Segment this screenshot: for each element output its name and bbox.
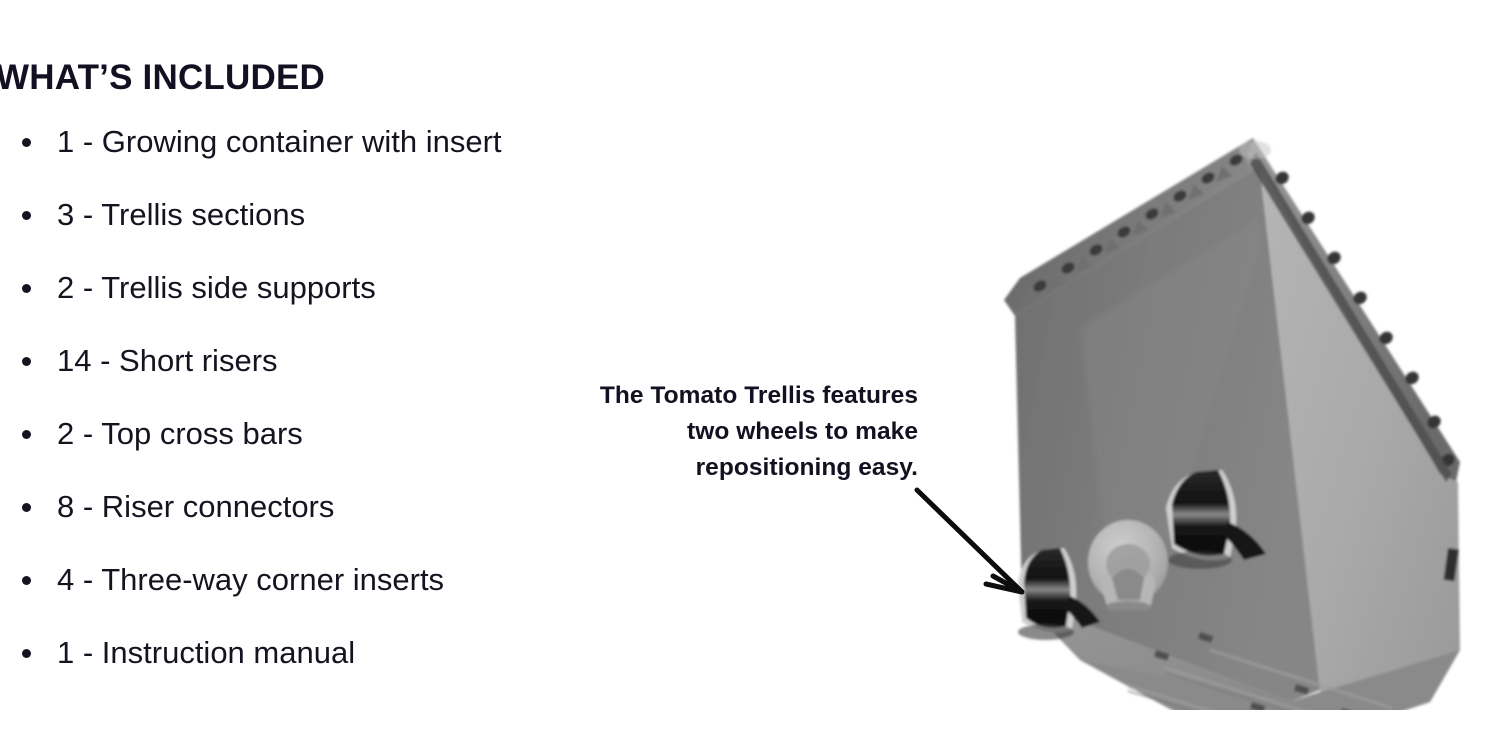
list-item: 3 - Trellis sections (0, 195, 620, 268)
list-item-label: 8 - Riser connectors (57, 489, 334, 524)
bullet-icon (22, 503, 31, 512)
bullet-icon (22, 211, 31, 220)
list-item: 1 - Growing container with insert (0, 122, 620, 195)
container-body (1004, 138, 1460, 710)
page-title: WHAT’S INCLUDED (0, 58, 325, 98)
list-item-label: 4 - Three-way corner inserts (57, 562, 444, 597)
bullet-icon (22, 576, 31, 585)
list-item: 2 - Top cross bars (0, 414, 620, 487)
callout-line-3: repositioning easy. (540, 450, 918, 486)
bullet-icon (22, 138, 31, 147)
included-items-list: 1 - Growing container with insert 3 - Tr… (0, 122, 620, 706)
callout-line-1: The Tomato Trellis features (540, 378, 918, 414)
pointer-arrow (890, 460, 1060, 620)
list-item-label: 3 - Trellis sections (57, 197, 305, 232)
list-item: 1 - Instruction manual (0, 633, 620, 706)
product-photo (960, 130, 1500, 710)
list-item-label: 2 - Top cross bars (57, 416, 303, 451)
list-item: 2 - Trellis side supports (0, 268, 620, 341)
list-item-label: 1 - Growing container with insert (57, 124, 502, 159)
callout-caption: The Tomato Trellis features two wheels t… (540, 378, 918, 486)
list-item: 14 - Short risers (0, 341, 620, 414)
list-item-label: 1 - Instruction manual (57, 635, 355, 670)
page-root: WHAT’S INCLUDED 1 - Growing container wi… (0, 0, 1500, 750)
list-item: 4 - Three-way corner inserts (0, 560, 620, 633)
bullet-icon (22, 649, 31, 658)
bullet-icon (22, 284, 31, 293)
bullet-icon (22, 430, 31, 439)
callout-line-2: two wheels to make (540, 414, 918, 450)
list-item-label: 14 - Short risers (57, 343, 278, 378)
apex-highlight (1239, 141, 1271, 159)
arrow-shaft (917, 490, 1021, 591)
bullet-icon (22, 357, 31, 366)
list-item: 8 - Riser connectors (0, 487, 620, 560)
list-item-label: 2 - Trellis side supports (57, 270, 376, 305)
